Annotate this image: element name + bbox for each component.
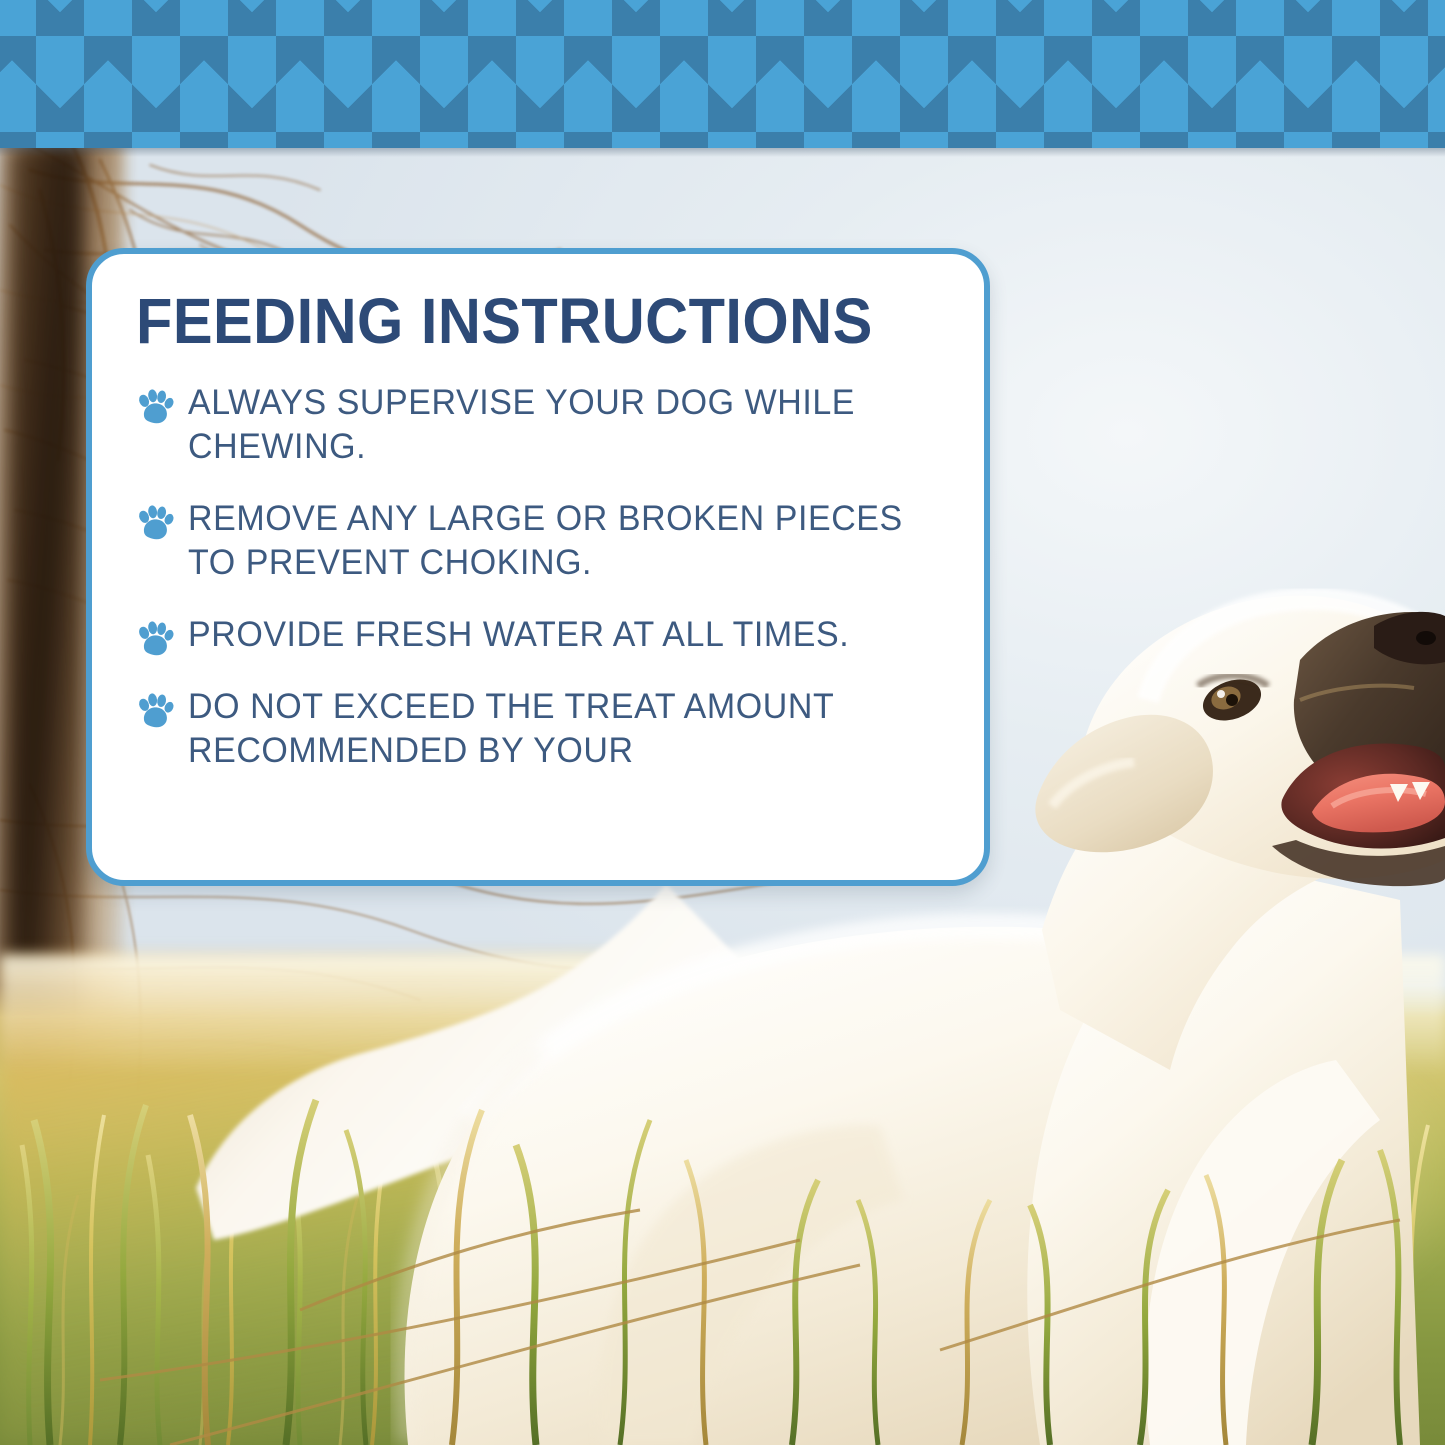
- paw-print-icon: [136, 621, 174, 657]
- list-item: REMOVE ANY LARGE OR BROKEN PIECES TO PRE…: [136, 497, 940, 585]
- header-drop-shadow: [0, 148, 1445, 157]
- paw-print-icon: [136, 693, 174, 729]
- gingham-pattern: [0, 0, 1445, 148]
- list-item: ALWAYS SUPERVISE YOUR DOG WHILE CHEWING.: [136, 381, 940, 469]
- grass-blades-foreground: [0, 1050, 1445, 1445]
- gingham-header-band: [0, 0, 1445, 148]
- list-item: DO NOT EXCEED THE TREAT AMOUNT RECOMMEND…: [136, 685, 940, 773]
- paw-print-icon: [136, 505, 174, 541]
- poster-canvas: FEEDING INSTRUCTIONS ALWAYS SUPERVISE YO…: [0, 0, 1445, 1445]
- list-item-label: ALWAYS SUPERVISE YOUR DOG WHILE CHEWING.: [188, 381, 917, 469]
- instructions-list: ALWAYS SUPERVISE YOUR DOG WHILE CHEWING.…: [136, 381, 940, 774]
- feeding-instructions-card: FEEDING INSTRUCTIONS ALWAYS SUPERVISE YO…: [86, 248, 990, 886]
- paw-print-icon: [136, 389, 174, 425]
- page-title: FEEDING INSTRUCTIONS: [136, 288, 884, 355]
- list-item: PROVIDE FRESH WATER AT ALL TIMES.: [136, 613, 940, 657]
- list-item-label: REMOVE ANY LARGE OR BROKEN PIECES TO PRE…: [188, 497, 917, 585]
- list-item-label: DO NOT EXCEED THE TREAT AMOUNT RECOMMEND…: [188, 685, 917, 773]
- list-item-label: PROVIDE FRESH WATER AT ALL TIMES.: [188, 613, 849, 657]
